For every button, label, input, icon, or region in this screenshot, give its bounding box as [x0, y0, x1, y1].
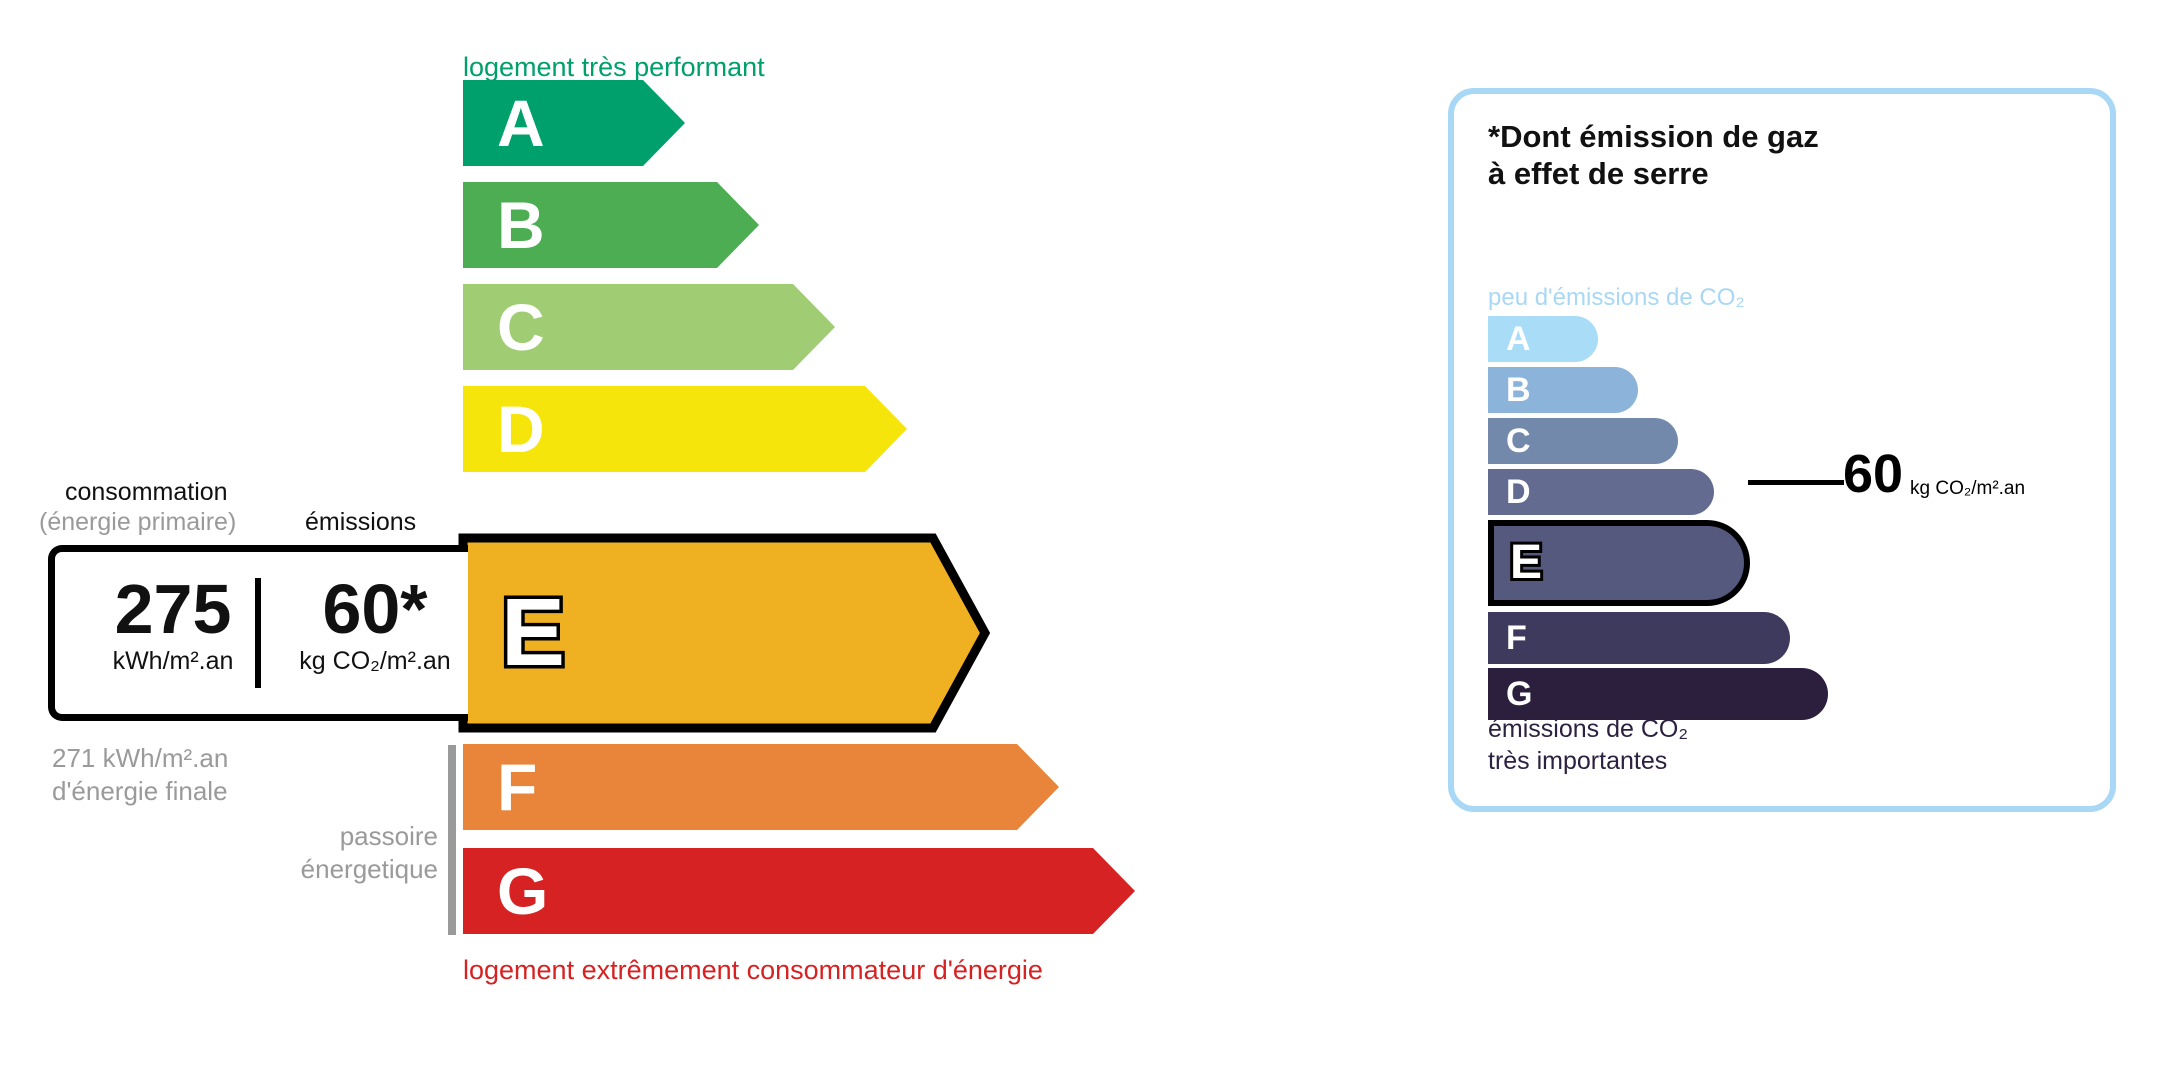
co2-bar-g: G: [1488, 668, 1828, 720]
energy-bar-g-letter: G: [497, 858, 548, 924]
energy-bar-a-letter: A: [497, 90, 545, 156]
energy-bar-e-current: E: [463, 538, 985, 728]
co2-callout-value: 60: [1843, 447, 1903, 501]
co2-bottom-line2: très importantes: [1488, 746, 1688, 778]
co2-callout-unit: kg CO₂/m².an: [1910, 478, 2025, 500]
co2-title-line2: à effet de serre: [1488, 156, 1819, 193]
primary-energy-value-cell: 275 kWh/m².an: [73, 574, 273, 676]
energy-bar-b: B: [463, 182, 759, 268]
co2-unit: kg CO₂/m².an: [280, 647, 470, 676]
label-consommation: consommation: [65, 478, 228, 507]
co2-title-line1: *Dont émission de gaz: [1488, 119, 1819, 156]
co2-bar-d: D: [1488, 469, 1714, 515]
final-energy-line2: d'énergie finale: [52, 775, 228, 808]
primary-energy-unit: kWh/m².an: [73, 647, 273, 676]
co2-bar-a: A: [1488, 316, 1598, 362]
values-divider: [255, 578, 261, 688]
energy-bar-d: D: [463, 386, 907, 472]
energy-bar-c-letter: C: [497, 294, 545, 360]
primary-energy-value: 275: [73, 574, 273, 645]
co2-bar-g-letter: G: [1506, 677, 1532, 711]
co2-panel: *Dont émission de gaz à effet de serre p…: [1448, 88, 2116, 812]
label-consommation-sub: (énergie primaire): [39, 508, 236, 537]
energy-bar-a: A: [463, 80, 685, 166]
co2-bottom-caption: émissions de CO₂ très importantes: [1488, 714, 1688, 777]
energy-bar-f-letter: F: [497, 754, 537, 820]
energy-bar-g: G: [463, 848, 1135, 934]
energy-bar-f: F: [463, 744, 1059, 830]
co2-leader-line: [1748, 480, 1844, 485]
energy-bar-d-letter: D: [497, 396, 545, 462]
passoire-label: passoire énergetique: [288, 820, 438, 887]
co2-value: 60*: [280, 574, 470, 645]
co2-bar-f: F: [1488, 612, 1790, 664]
chart-top-caption: logement très performant: [463, 52, 765, 83]
final-energy-note: 271 kWh/m².an d'énergie finale: [52, 742, 228, 809]
passoire-line2: énergetique: [288, 853, 438, 886]
label-emissions: émissions: [305, 508, 416, 537]
passoire-bracket: [448, 745, 456, 935]
co2-value-cell: 60* kg CO₂/m².an: [280, 574, 470, 676]
co2-bar-f-letter: F: [1506, 621, 1527, 655]
energy-bar-e-letter: E: [501, 585, 565, 681]
co2-bar-c-letter: C: [1506, 424, 1531, 458]
final-energy-line1: 271 kWh/m².an: [52, 742, 228, 775]
co2-panel-title: *Dont émission de gaz à effet de serre: [1488, 119, 1819, 192]
co2-bottom-line1: émissions de CO₂: [1488, 714, 1688, 746]
dpe-infographic: logement très performant A B: [0, 0, 2169, 1079]
passoire-line1: passoire: [288, 820, 438, 853]
chart-bottom-caption: logement extrêmement consommateur d'éner…: [463, 955, 1043, 986]
energy-bar-b-letter: B: [497, 192, 545, 258]
co2-bar-b: B: [1488, 367, 1638, 413]
energy-class-chart: logement très performant A B: [0, 0, 1400, 1079]
co2-bar-e-letter: E: [1510, 539, 1542, 587]
co2-bar-c: C: [1488, 418, 1678, 464]
co2-bar-e-current: E: [1488, 520, 1750, 606]
co2-bar-a-letter: A: [1506, 322, 1531, 356]
co2-bar-d-letter: D: [1506, 475, 1531, 509]
energy-bar-c: C: [463, 284, 835, 370]
co2-bar-b-letter: B: [1506, 373, 1531, 407]
co2-top-caption: peu d'émissions de CO₂: [1488, 284, 1745, 312]
